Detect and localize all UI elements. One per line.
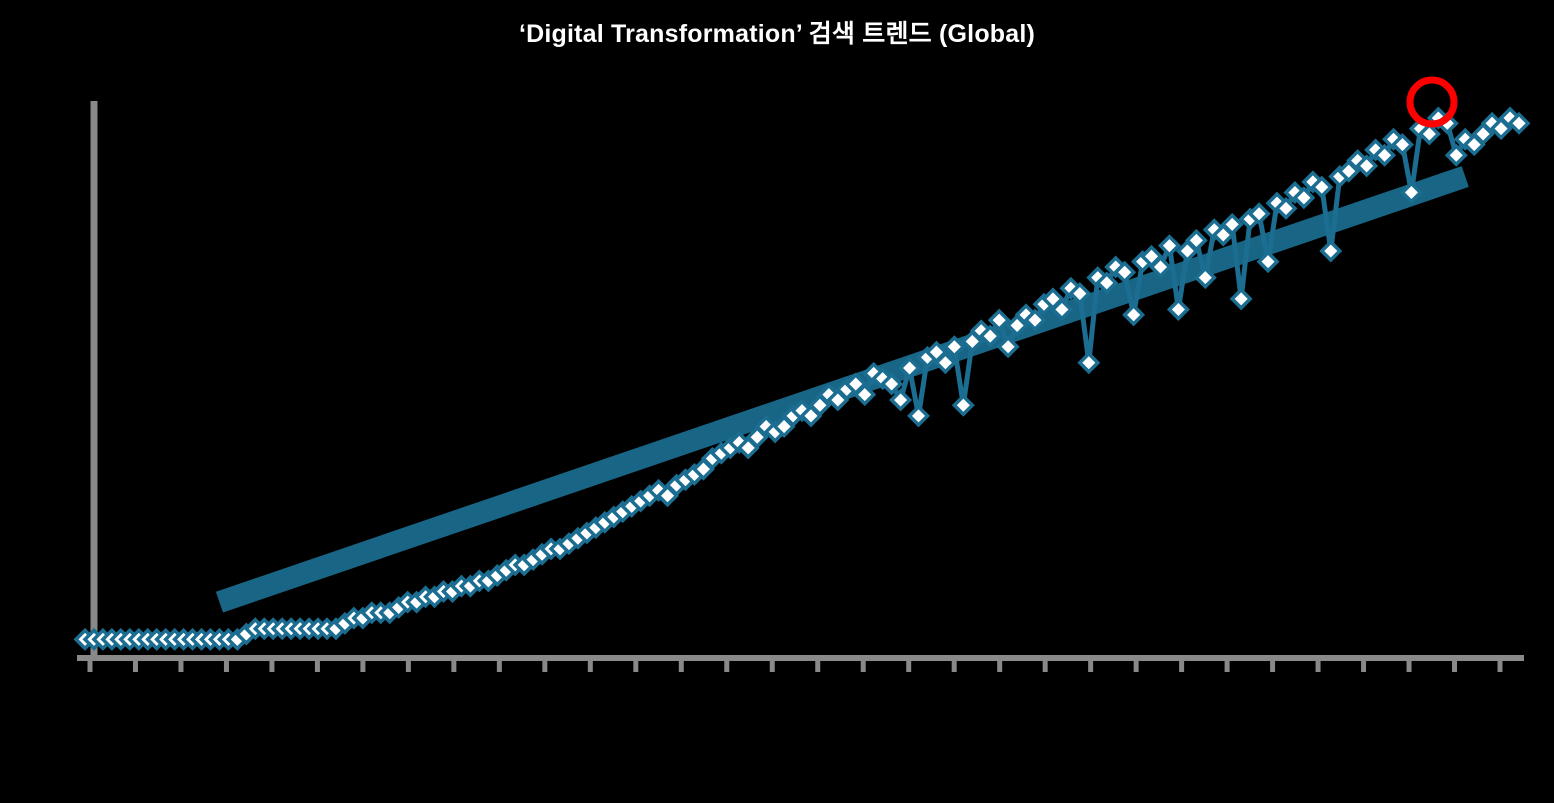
data-point-marker — [910, 407, 928, 425]
data-point-marker — [1169, 301, 1187, 319]
data-point-marker — [1160, 237, 1178, 255]
data-point-marker — [1080, 354, 1098, 372]
data-point-marker — [1322, 242, 1340, 260]
data-point-marker — [954, 396, 972, 414]
data-point-marker — [1232, 290, 1250, 308]
data-point-marker — [1125, 306, 1143, 324]
chart-screenshot: ‘Digital Transformation’ 검색 트렌드 (Global) — [0, 0, 1554, 803]
chart-plot-area — [0, 0, 1554, 803]
